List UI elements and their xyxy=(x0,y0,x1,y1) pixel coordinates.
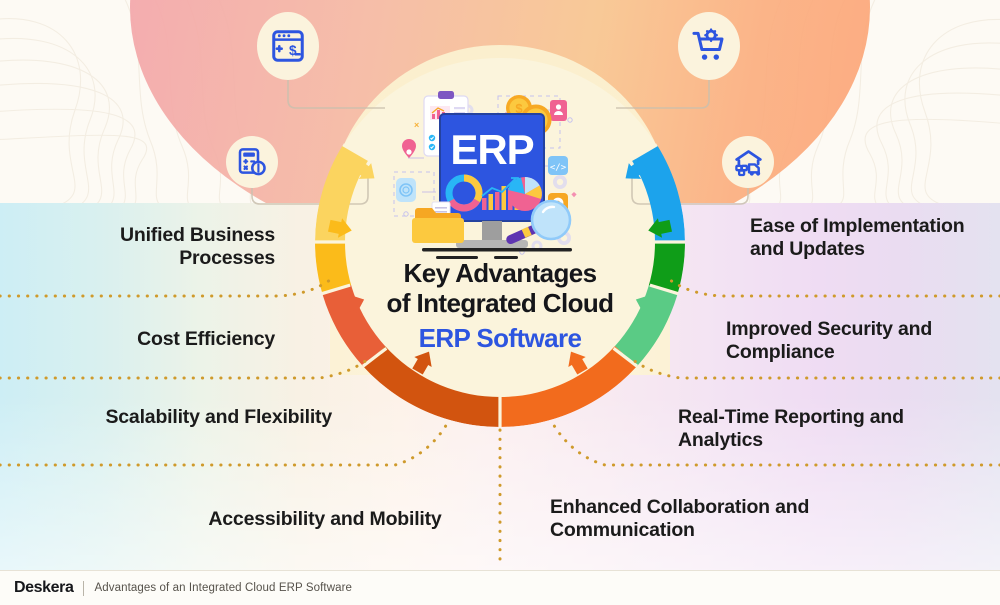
center-title: Key Advantages of Integrated Cloud ERP S… xyxy=(340,258,660,353)
title-line-2: of Integrated Cloud xyxy=(387,288,614,318)
erp-screen-text: ERP xyxy=(450,126,533,173)
infographic-canvas: </> × xyxy=(0,0,1000,605)
label-unified-business-processes[interactable]: Unified Business Processes xyxy=(20,224,275,271)
title-highlight: ERP Software xyxy=(340,323,660,353)
erp-illustration: </> × xyxy=(378,82,622,264)
brand-logo: Deskera xyxy=(14,579,73,597)
calculator-coin-icon xyxy=(236,146,268,178)
shopping-cart-gear-icon xyxy=(690,27,728,65)
footer-bar: Deskera Advantages of an Integrated Clou… xyxy=(0,570,1000,605)
svg-text:$: $ xyxy=(289,43,297,58)
accounting-badge[interactable] xyxy=(226,136,278,188)
label-cost-efficiency[interactable]: Cost Efficiency xyxy=(20,328,275,351)
footer-caption: Advantages of an Integrated Cloud ERP So… xyxy=(94,582,352,594)
title-line-1: Key Advantages xyxy=(404,258,597,288)
warehouse-logistics-badge[interactable] xyxy=(722,136,774,188)
label-accessibility-and-mobility[interactable]: Accessibility and Mobility xyxy=(125,508,525,531)
warehouse-truck-icon xyxy=(732,146,765,179)
svg-text:</>: </> xyxy=(550,163,567,173)
svg-text:×: × xyxy=(414,120,419,130)
label-ease-of-implementation-and-updates[interactable]: Ease of Implementation and Updates xyxy=(750,215,965,262)
label-enhanced-collaboration-and-communication[interactable]: Enhanced Collaboration and Communication xyxy=(550,496,870,543)
label-improved-security-and-compliance[interactable]: Improved Security and Compliance xyxy=(726,318,976,365)
dollar-window-icon: $ xyxy=(269,27,307,65)
ecommerce-badge[interactable] xyxy=(678,12,740,80)
label-real-time-reporting-and-analytics[interactable]: Real-Time Reporting and Analytics xyxy=(678,406,968,453)
label-scalability-and-flexibility[interactable]: Scalability and Flexibility xyxy=(60,406,332,429)
footer-divider xyxy=(83,581,84,596)
finance-billing-badge[interactable]: $ xyxy=(257,12,319,80)
